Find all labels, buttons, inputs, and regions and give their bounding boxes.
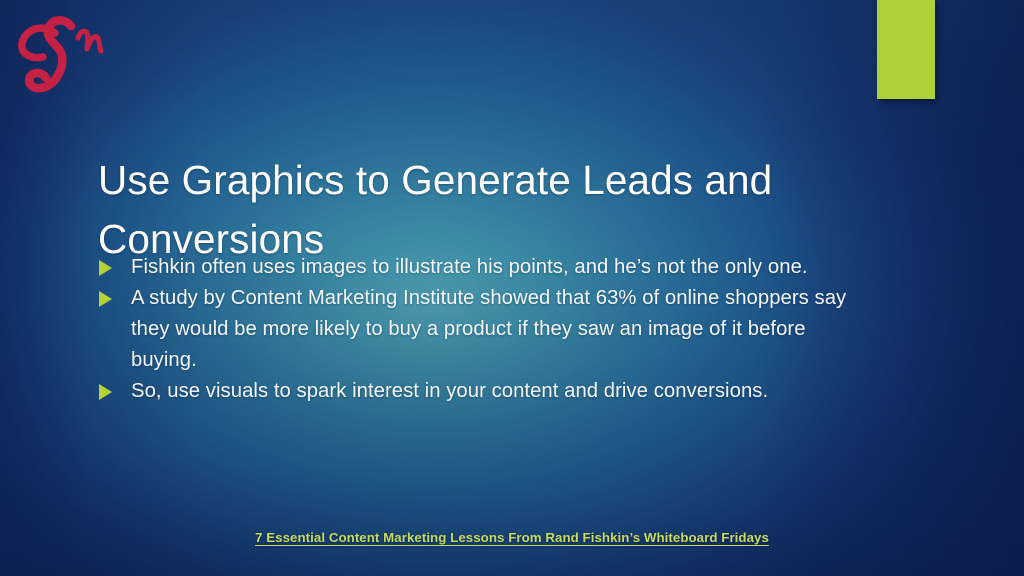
source-article-link[interactable]: 7 Essential Content Marketing Lessons Fr… <box>0 530 1024 545</box>
triangle-bullet-icon <box>99 384 112 400</box>
bullet-list: Fishkin often uses images to illustrate … <box>96 252 856 407</box>
bullet-item: A study by Content Marketing Institute s… <box>96 283 856 376</box>
triangle-bullet-icon <box>99 291 112 307</box>
triangle-bullet-icon <box>99 260 112 276</box>
presentation-slide: Use Graphics to Generate Leads and Conve… <box>0 0 1024 576</box>
bullet-item: Fishkin often uses images to illustrate … <box>96 252 856 283</box>
bullet-item-text: So, use visuals to spark interest in you… <box>131 380 768 402</box>
csm-monogram-logo-icon <box>8 4 116 100</box>
bullet-item-text: A study by Content Marketing Institute s… <box>131 287 846 371</box>
bullet-item-text: Fishkin often uses images to illustrate … <box>131 256 808 278</box>
bullet-item: So, use visuals to spark interest in you… <box>96 376 856 407</box>
green-accent-rectangle <box>877 0 935 99</box>
